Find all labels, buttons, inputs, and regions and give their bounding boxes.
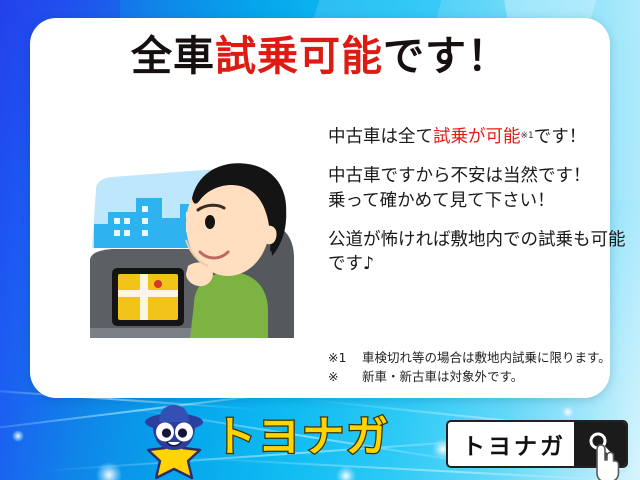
headline-part-3: です！ [383,32,509,80]
footnote-text: 新車・新古車は対象外です。 [362,367,523,386]
content-card: 全車試乗可能です！ [30,18,610,398]
body-line-1: 中古車は全て試乗が可能※1です！ [328,126,628,150]
footnote-row: ※ 新車・新古車は対象外です。 [328,367,638,386]
glow-dot [336,466,356,480]
search-input[interactable]: トヨナガ [448,427,574,461]
driver-eye [205,215,215,229]
body-line-3: 乗って確かめて見て下さい！ [328,190,628,214]
glow-dot [12,430,24,442]
body-line-2: 中古車ですから不安は当然です！ [328,165,628,189]
navigation-screen [112,268,184,326]
footnote-mark: ※ [328,367,362,386]
body-line-1-a: 中古車は全て [328,127,433,147]
body-line-4-text: 公道が怖ければ敷地内での試乗も可能です♪ [328,230,626,274]
glow-dot [560,404,576,420]
body-line-2-text: 中古車ですから不安は当然です！ [328,166,591,186]
person-driving-car-illustration [82,156,318,348]
hand-cursor-icon [590,443,624,480]
footnote-row: ※1 車検切れ等の場合は敷地内試乗に限ります。 [328,348,638,367]
footnotes: ※1 車検切れ等の場合は敷地内試乗に限ります。 ※ 新車・新古車は対象外です。 [328,348,638,387]
headline: 全車試乗可能です！ [30,36,610,77]
body-line-4: 公道が怖ければ敷地内での試乗も可能です♪ [328,229,628,276]
headline-part-1: 全車 [131,32,215,80]
advertisement-banner: 全車試乗可能です！ [0,0,640,480]
footnote-ref: ※1 [521,131,534,141]
footnote-mark: ※1 [328,348,362,367]
headline-part-highlight: 試乗可能 [215,32,383,80]
body-line-1-b: です！ [534,127,587,147]
footnote-text: 車検切れ等の場合は敷地内試乗に限ります。 [362,348,611,367]
toyonaga-mascot [143,404,205,480]
body-copy: 中古車は全て試乗が可能※1です！ 中古車ですから不安は当然です！ 乗って確かめて… [328,126,628,291]
body-line-1-highlight: 試乗が可能 [433,127,521,147]
brand-logo-text: トヨナガ [214,416,390,458]
nav-marker [154,280,162,288]
body-line-3-text: 乗って確かめて見て下さい！ [328,191,555,211]
mascot-hat-crown [159,405,189,422]
